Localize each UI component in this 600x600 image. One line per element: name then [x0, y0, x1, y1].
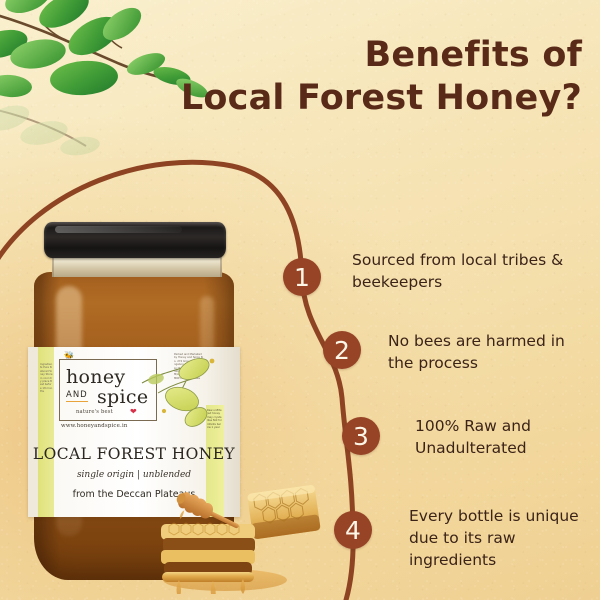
benefit-number-3: 3 — [353, 422, 369, 451]
benefit-number-1: 1 — [294, 263, 310, 292]
product-name: LOCAL FOREST HONEY — [28, 445, 240, 463]
benefit-text-2: No bees are harmed in the process — [388, 330, 594, 374]
brand-word-honey: honey — [66, 366, 125, 388]
brand-website: www.honeyandspice.in — [61, 423, 128, 429]
benefit-text-3: 100% Raw and Unadulterated — [415, 415, 595, 459]
benefit-marker-2[interactable]: 2 — [323, 331, 361, 369]
jar-lid — [44, 222, 226, 258]
benefit-number-4: 4 — [345, 516, 361, 545]
benefit-marker-3[interactable]: 3 — [342, 417, 380, 455]
benefit-marker-4[interactable]: 4 — [334, 511, 372, 549]
jar-neck — [52, 255, 222, 277]
brand-word-and: AND — [66, 390, 88, 402]
poster-canvas: Benefits of Local Forest Honey? Ingredie… — [0, 0, 600, 600]
label-microcopy-left: Ingredients Pure Natural Honey Store in … — [40, 363, 53, 394]
benefit-number-2: 2 — [334, 336, 350, 365]
benefit-text-4: Every bottle is unique due to its raw in… — [409, 505, 589, 571]
brand-tagline: nature's best — [76, 409, 113, 415]
honeycomb-icon — [145, 476, 325, 594]
benefit-text-1: Sourced from local tribes & beekeepers — [352, 249, 592, 293]
benefit-marker-1[interactable]: 1 — [283, 258, 321, 296]
label-botanical-illustration — [134, 353, 226, 439]
